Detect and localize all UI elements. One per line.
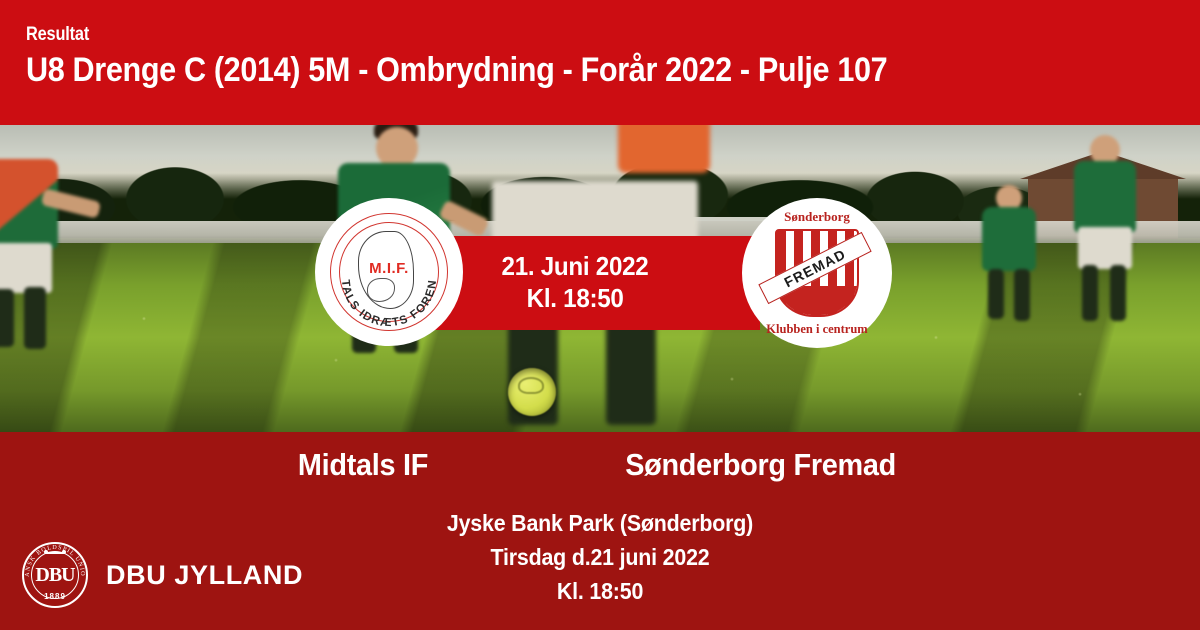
dbu-wordmark: DBU JYLLAND <box>106 560 303 591</box>
away-club-logo: Sønderborg FREMAD Klubben i centrum <box>742 198 892 348</box>
fremad-bottom-label: Klubben i centrum <box>755 322 879 337</box>
mif-arc-label: MIDTALS IDRÆTS FORENING <box>330 213 439 329</box>
football <box>508 368 556 416</box>
header-bar: Resultat U8 Drenge C (2014) 5M - Ombrydn… <box>0 0 1200 125</box>
home-club-logo: M.I.F. MIDTALS IDRÆTS FORENING <box>315 198 463 346</box>
player-silhouette <box>0 147 100 347</box>
mif-arc-text: MIDTALS IDRÆTS FORENING <box>330 213 448 331</box>
player-silhouette <box>970 185 1060 345</box>
venue-name: Jyske Bank Park (Sønderborg) <box>42 506 1158 540</box>
fremad-top-label: Sønderborg <box>755 209 879 225</box>
player-silhouette <box>1050 135 1160 325</box>
mif-emblem: M.I.F. MIDTALS IDRÆTS FORENING <box>330 213 448 331</box>
away-team-name: Sønderborg Fremad <box>626 447 897 483</box>
header-kicker: Resultat <box>26 25 89 44</box>
dbu-arc-text: DANSK BOLDSPIL UNION <box>22 542 88 608</box>
svg-text:MIDTALS IDRÆTS FORENING: MIDTALS IDRÆTS FORENING <box>330 213 439 329</box>
svg-text:DANSK BOLDSPIL UNION: DANSK BOLDSPIL UNION <box>22 542 86 577</box>
dbu-arc-label: DANSK BOLDSPIL UNION <box>22 542 86 577</box>
dbu-seal-icon: DBU 1889 DANSK BOLDSPIL UNION <box>22 542 88 608</box>
match-result-poster: Resultat U8 Drenge C (2014) 5M - Ombrydn… <box>0 0 1200 630</box>
team-names-row: Midtals IF Sønderborg Fremad <box>0 447 1200 483</box>
match-time: Kl. 18:50 <box>527 283 624 315</box>
home-team-name: Midtals IF <box>298 447 428 483</box>
dbu-branding: DBU 1889 DANSK BOLDSPIL UNION DBU JYLLAN… <box>22 542 303 608</box>
match-date: 21. Juni 2022 <box>502 251 649 283</box>
fremad-emblem: Sønderborg FREMAD Klubben i centrum <box>755 209 879 337</box>
page-title: U8 Drenge C (2014) 5M - Ombrydning - For… <box>26 52 887 89</box>
